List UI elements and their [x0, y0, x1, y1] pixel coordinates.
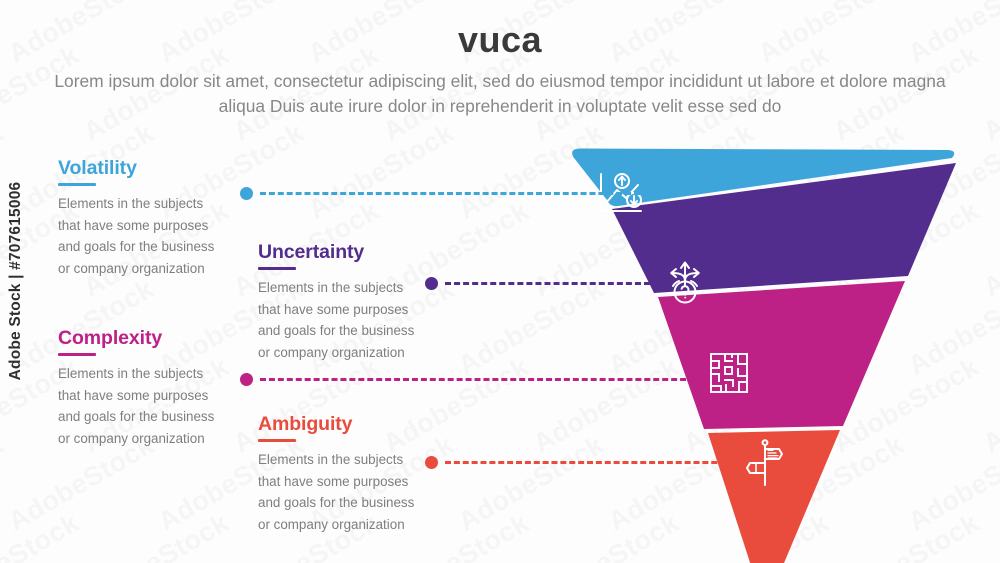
watermark-text: AdobeStock — [0, 507, 84, 563]
page-title: vuca — [0, 21, 1000, 59]
watermark-text: AdobeStock — [978, 351, 1000, 459]
watermark-text: AdobeStock — [0, 429, 9, 537]
info-block-complexity: Complexity Elements in the subjects that… — [58, 328, 278, 450]
info-title-volatility: Volatility — [58, 158, 278, 179]
watermark-text: AdobeStock — [978, 195, 1000, 303]
info-rule-complexity — [58, 353, 96, 356]
watermark-text: AdobeStock — [978, 507, 1000, 563]
info-rule-volatility — [58, 183, 96, 186]
page-subtitle: Lorem ipsum dolor sit amet, consectetur … — [50, 69, 950, 119]
connector-line-volatility — [260, 192, 640, 195]
info-desc-uncertainty: Elements in the subjects that have some … — [258, 277, 478, 364]
watermark-text: AdobeStock — [303, 117, 459, 225]
connector-volatility — [240, 186, 640, 200]
connector-line-ambiguity — [445, 461, 735, 464]
question-branching-arrows-icon — [663, 259, 707, 310]
info-block-ambiguity: Ambiguity Elements in the subjects that … — [258, 414, 478, 536]
info-block-uncertainty: Uncertainty Elements in the subjects tha… — [258, 242, 478, 364]
signpost-icon — [744, 437, 784, 492]
header: vuca Lorem ipsum dolor sit amet, consect… — [0, 0, 1000, 119]
info-title-complexity: Complexity — [58, 328, 278, 349]
info-rule-ambiguity — [258, 439, 296, 442]
connector-line-complexity — [260, 378, 695, 381]
adobe-stock-credit: Adobe Stock | #707615006 — [7, 131, 25, 431]
info-rule-uncertainty — [258, 267, 296, 270]
connector-complexity — [240, 372, 695, 386]
info-block-volatility: Volatility Elements in the subjects that… — [58, 158, 278, 280]
watermark-text: AdobeStock — [78, 507, 234, 563]
info-desc-volatility: Elements in the subjects that have some … — [58, 193, 278, 280]
info-desc-complexity: Elements in the subjects that have some … — [58, 363, 278, 450]
info-title-ambiguity: Ambiguity — [258, 414, 478, 435]
info-desc-ambiguity: Elements in the subjects that have some … — [258, 449, 478, 536]
maze-icon — [709, 352, 749, 399]
info-title-uncertainty: Uncertainty — [258, 242, 478, 263]
